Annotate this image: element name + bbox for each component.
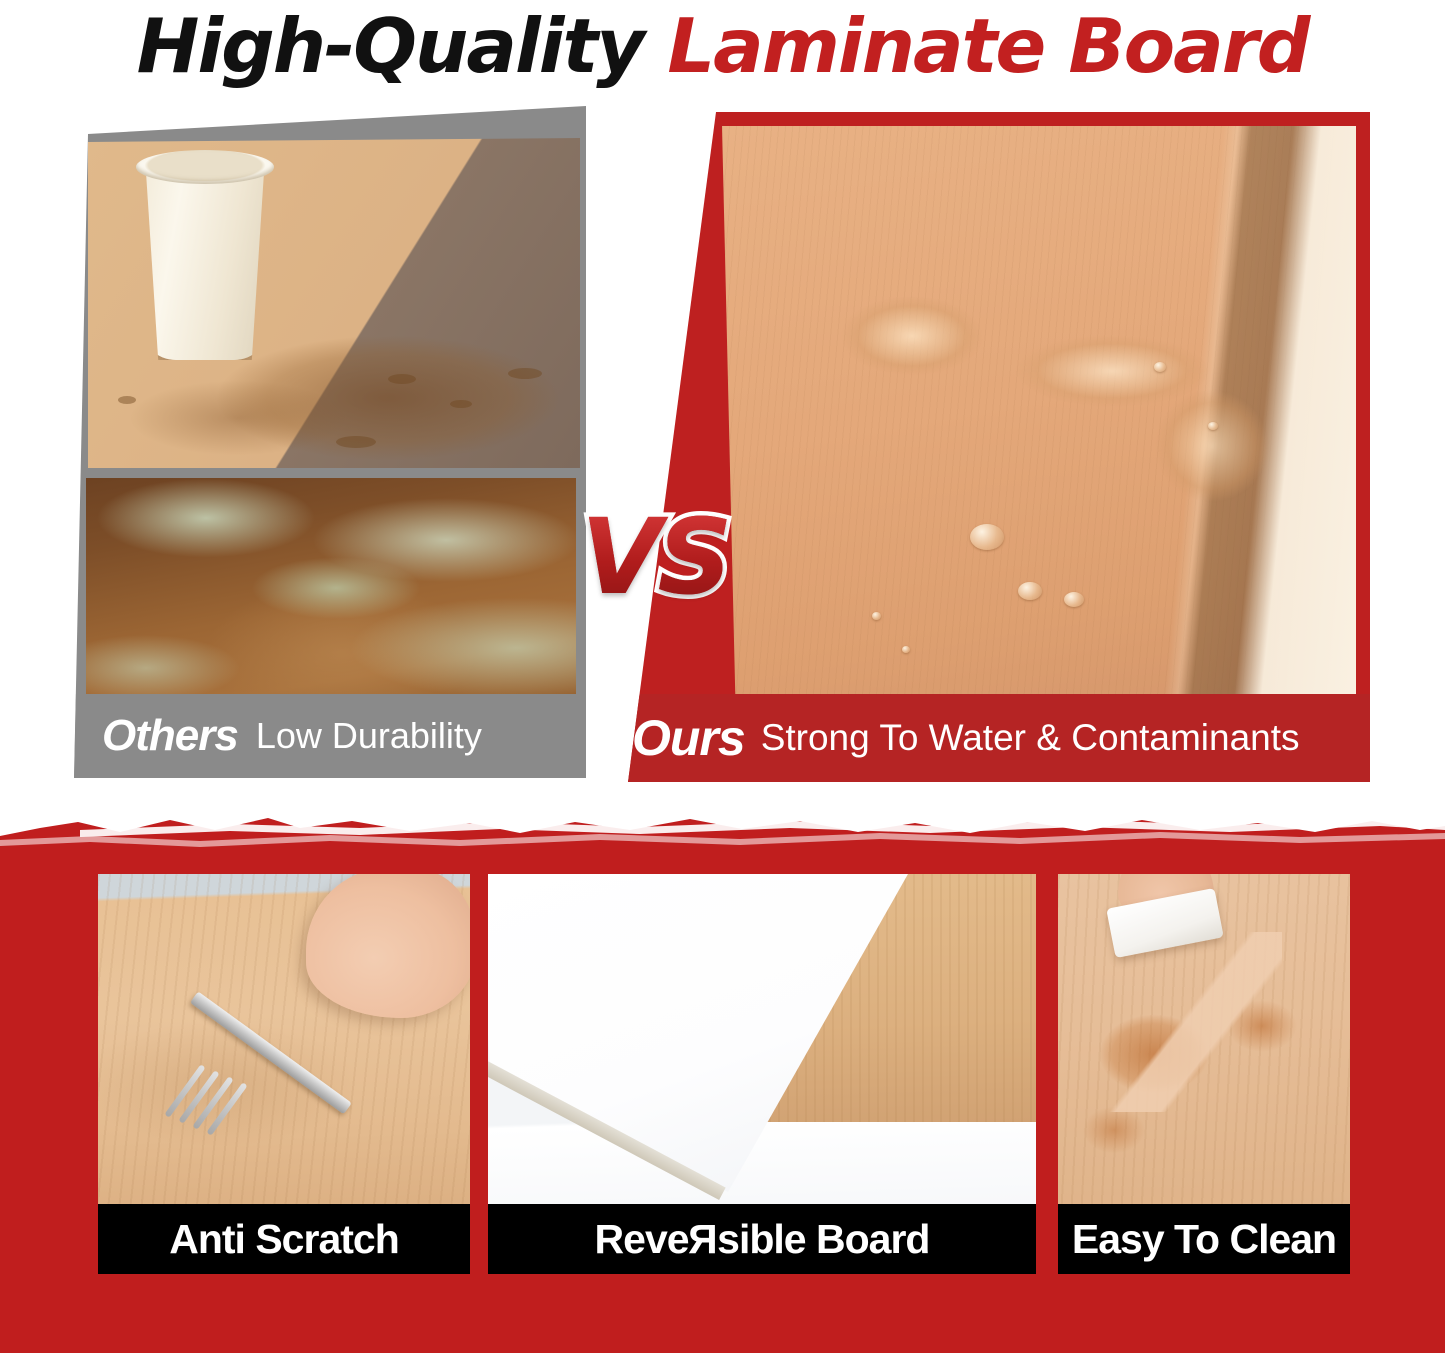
wiped-clean-streak xyxy=(1102,932,1282,1112)
spill-droplet xyxy=(388,374,416,384)
water-bead xyxy=(1064,592,1084,607)
reversed-r-glyph: R xyxy=(689,1216,718,1263)
others-mold-photo xyxy=(86,478,576,720)
feature-card-reversible-board: ReveRsible Board xyxy=(488,874,1036,1274)
ours-label-bar: Ours Strong To Water & Contaminants xyxy=(598,694,1370,782)
feature-caption-easy-to-clean: Easy To Clean xyxy=(1072,1216,1336,1263)
water-bead xyxy=(970,524,1004,550)
water-bead xyxy=(1154,362,1166,372)
water-pool xyxy=(832,276,1272,546)
feature-caption-bar: Anti Scratch xyxy=(98,1204,470,1274)
water-bead xyxy=(902,646,910,653)
spill-droplet xyxy=(508,368,542,379)
title-part-black: High-Quality xyxy=(137,2,668,90)
torn-brush-divider xyxy=(0,806,1445,866)
water-bead xyxy=(872,612,881,620)
others-headline: Others xyxy=(102,711,238,761)
feature-card-easy-to-clean: Easy To Clean xyxy=(1058,874,1350,1274)
page-title: High-Quality Laminate Board xyxy=(0,2,1445,90)
feature-image-reversible-board xyxy=(488,874,1036,1204)
title-part-red: Laminate Board xyxy=(667,2,1308,90)
infographic-root: High-Quality Laminate Board Others L xyxy=(0,0,1445,1353)
others-panel-inner: Others Low Durability xyxy=(74,106,586,778)
feature-caption-anti-scratch: Anti Scratch xyxy=(169,1216,399,1263)
caption-text-after: sible Board xyxy=(717,1216,929,1262)
paper-cup-rim xyxy=(136,150,274,184)
feature-caption-bar: ReveRsible Board xyxy=(488,1204,1036,1274)
hand-icon xyxy=(306,874,470,1018)
ours-subtext: Strong To Water & Contaminants xyxy=(761,717,1300,759)
feature-image-easy-to-clean xyxy=(1058,874,1350,1204)
others-subtext: Low Durability xyxy=(256,715,482,757)
others-label-bar: Others Low Durability xyxy=(74,694,586,778)
spill-droplet xyxy=(118,396,136,404)
ours-headline: Ours xyxy=(632,709,745,767)
water-bead xyxy=(1018,582,1042,600)
features-section: Anti Scratch ReveRsible Board Easy To Cl… xyxy=(0,848,1445,1353)
feature-card-anti-scratch: Anti Scratch xyxy=(98,874,470,1274)
ours-panel: Ours Strong To Water & Contaminants xyxy=(598,104,1370,782)
others-panel: Others Low Durability xyxy=(74,106,586,778)
fork-tine xyxy=(206,1082,247,1136)
others-spill-photo xyxy=(88,138,580,468)
comparison-section: Others Low Durability Ours Strong To Wat… xyxy=(0,96,1445,796)
paper-cup xyxy=(140,160,270,360)
water-bead xyxy=(1208,422,1218,430)
ours-board-photo xyxy=(722,126,1356,726)
spill-droplet xyxy=(450,400,472,408)
vs-badge: VS xyxy=(581,502,761,612)
feature-caption-reversible-board: ReveRsible Board xyxy=(595,1216,930,1263)
caption-text-before: Reve xyxy=(595,1216,689,1262)
feature-image-anti-scratch xyxy=(98,874,470,1204)
feature-caption-bar: Easy To Clean xyxy=(1058,1204,1350,1274)
spill-droplet xyxy=(336,436,376,448)
